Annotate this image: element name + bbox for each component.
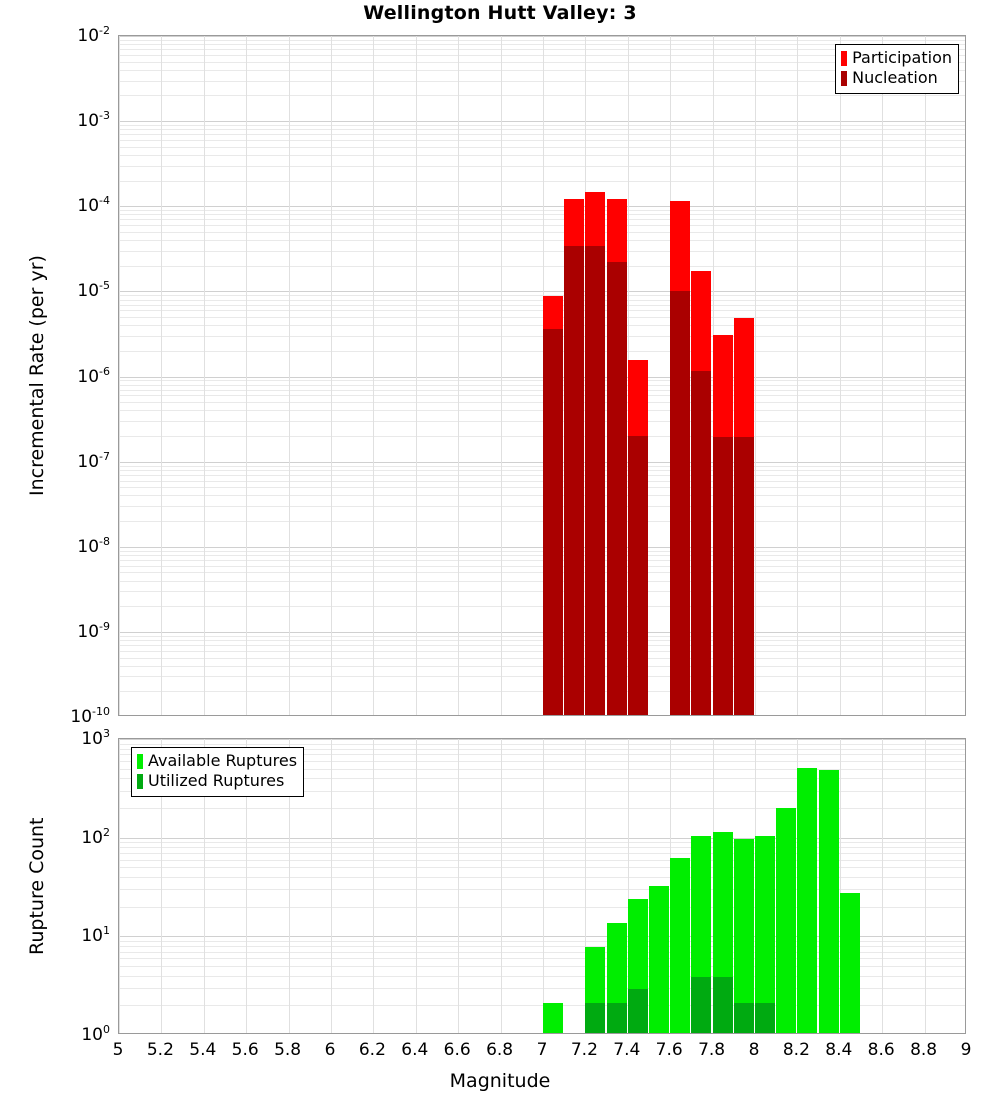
bar-segment-available-ruptures [776, 808, 796, 1033]
y-tick-label: 101 [81, 925, 110, 947]
x-tick-label: 7.8 [698, 1040, 725, 1060]
x-tick-label: 8.4 [825, 1040, 852, 1060]
gridline-vertical [925, 739, 926, 1033]
bar-segment-nucleation [691, 371, 711, 715]
gridline-vertical [501, 36, 502, 715]
bar-group [840, 739, 860, 1033]
x-tick-label: 8.8 [910, 1040, 937, 1060]
bar-group [522, 739, 542, 1033]
y-tick-label: 10-5 [77, 280, 110, 302]
bar-segment-nucleation [628, 436, 648, 715]
bar-segment-utilized-ruptures [585, 1003, 605, 1033]
bar-segment-available-ruptures [649, 886, 669, 1033]
gridline-vertical [331, 739, 332, 1033]
gridline-vertical [882, 36, 883, 715]
x-tick-label: 7.4 [613, 1040, 640, 1060]
bar-group [628, 739, 648, 1033]
y-tick-label: 10-3 [77, 109, 110, 131]
gridline-vertical [373, 36, 374, 715]
gridline-vertical [882, 739, 883, 1033]
bar-segment-utilized-ruptures [755, 1003, 775, 1033]
gridline-vertical [755, 36, 756, 715]
y-tick-label: 10-9 [77, 620, 110, 642]
y-tick-label: 100 [81, 1023, 110, 1045]
x-tick-label: 7 [537, 1040, 548, 1060]
bar-group [564, 36, 584, 715]
legend-label: Utilized Ruptures [148, 771, 284, 791]
y-tick-label: 10-2 [77, 24, 110, 46]
gridline-vertical [840, 36, 841, 715]
legend-incremental-rate: ParticipationNucleation [835, 44, 959, 94]
bar-segment-utilized-ruptures [713, 977, 733, 1033]
bar-group [755, 739, 775, 1033]
legend-label: Participation [852, 48, 952, 68]
gridline-vertical [416, 739, 417, 1033]
legend-swatch-utilized [137, 774, 143, 789]
y-axis-title-rupture-count: Rupture Count [26, 818, 48, 956]
x-tick-label: 6.4 [401, 1040, 428, 1060]
bar-group [628, 36, 648, 715]
y-tick-label: 10-6 [77, 365, 110, 387]
page-title: Wellington Hutt Valley: 3 [0, 2, 1000, 24]
legend-label: Available Ruptures [148, 751, 297, 771]
gridline-vertical [119, 36, 120, 715]
gridline-vertical [289, 36, 290, 715]
bar-group [797, 739, 817, 1033]
y-tick-label: 103 [81, 727, 110, 749]
bar-group [564, 739, 584, 1033]
bar-segment-nucleation [585, 246, 605, 715]
chart-page: Wellington Hutt Valley: 3 ParticipationN… [0, 0, 1000, 1100]
x-tick-label: 8.2 [783, 1040, 810, 1060]
legend-row: Utilized Ruptures [137, 771, 297, 791]
x-tick-label: 8.6 [868, 1040, 895, 1060]
bar-segment-available-ruptures [840, 893, 860, 1033]
bar-group [607, 36, 627, 715]
bar-segment-available-ruptures [819, 770, 839, 1033]
y-tick-label: 10-8 [77, 535, 110, 557]
x-tick-label: 5.8 [274, 1040, 301, 1060]
gridline-vertical [797, 36, 798, 715]
bar-group [458, 739, 478, 1033]
gridline-vertical [501, 739, 502, 1033]
bar-group [819, 739, 839, 1033]
bar-segment-utilized-ruptures [628, 989, 648, 1033]
x-tick-label: 6.2 [359, 1040, 386, 1060]
bar-group [691, 739, 711, 1033]
bar-segment-utilized-ruptures [607, 1003, 627, 1033]
bar-segment-available-ruptures [670, 858, 690, 1033]
bar-segment-available-ruptures [797, 768, 817, 1033]
x-tick-label: 5.6 [232, 1040, 259, 1060]
bar-group [585, 739, 605, 1033]
gridline-vertical [204, 36, 205, 715]
legend-swatch-available [137, 754, 143, 769]
legend-rupture-count: Available RupturesUtilized Ruptures [131, 747, 304, 797]
x-tick-label: 7.6 [656, 1040, 683, 1060]
gridline-vertical [416, 36, 417, 715]
x-tick-label: 5 [113, 1040, 124, 1060]
bar-segment-available-ruptures [543, 1003, 563, 1033]
incremental-rate-plot-area [119, 36, 965, 715]
legend-label: Nucleation [852, 68, 938, 88]
x-tick-label: 6 [325, 1040, 336, 1060]
bar-group [734, 36, 754, 715]
bar-segment-utilized-ruptures [691, 977, 711, 1033]
x-tick-label: 8 [749, 1040, 760, 1060]
x-tick-label: 5.4 [189, 1040, 216, 1060]
y-axis-title-incremental-rate: Incremental Rate (per yr) [26, 255, 48, 496]
gridline-vertical [246, 36, 247, 715]
gridline-vertical [925, 36, 926, 715]
y-tick-label: 10-7 [77, 450, 110, 472]
bar-group [585, 36, 605, 715]
bar-segment-nucleation [670, 291, 690, 715]
x-tick-label: 7.2 [571, 1040, 598, 1060]
x-tick-label: 6.8 [486, 1040, 513, 1060]
bar-group [543, 739, 563, 1033]
legend-row: Nucleation [841, 68, 952, 88]
bar-group [607, 739, 627, 1033]
bar-group [670, 36, 690, 715]
bar-group [670, 739, 690, 1033]
legend-swatch-participation [841, 51, 847, 66]
x-tick-label: 6.6 [444, 1040, 471, 1060]
x-axis-title: Magnitude [0, 1070, 1000, 1092]
bar-group [543, 36, 563, 715]
bar-segment-nucleation [607, 262, 627, 715]
bar-segment-nucleation [543, 329, 563, 715]
bar-group [776, 739, 796, 1033]
legend-row: Participation [841, 48, 952, 68]
bar-segment-nucleation [713, 437, 733, 715]
gridline-vertical [458, 36, 459, 715]
x-tick-label: 9 [961, 1040, 972, 1060]
bar-segment-nucleation [734, 437, 754, 715]
bar-group [649, 739, 669, 1033]
bar-group [713, 739, 733, 1033]
x-tick-label: 5.2 [147, 1040, 174, 1060]
gridline-vertical [119, 739, 120, 1033]
bar-group [734, 739, 754, 1033]
bar-group [713, 36, 733, 715]
gridline-vertical [161, 36, 162, 715]
gridline-vertical [331, 36, 332, 715]
bar-group [691, 36, 711, 715]
rupture-count-panel: Available RupturesUtilized Ruptures [118, 738, 966, 1034]
legend-swatch-nucleation [841, 71, 847, 86]
y-tick-label: 10-10 [70, 705, 110, 727]
legend-row: Available Ruptures [137, 751, 297, 771]
y-tick-label: 10-4 [77, 194, 110, 216]
gridline-vertical [373, 739, 374, 1033]
y-tick-label: 102 [81, 826, 110, 848]
bar-segment-utilized-ruptures [734, 1003, 754, 1033]
bar-segment-nucleation [564, 246, 584, 715]
incremental-rate-panel: ParticipationNucleation [118, 35, 966, 716]
